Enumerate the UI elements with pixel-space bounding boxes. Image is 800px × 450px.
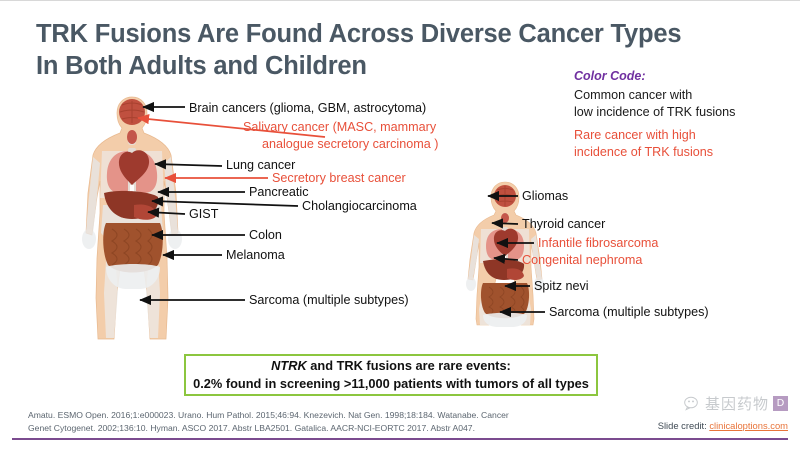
slide-canvas: TRK Fusions Are Found Across Diverse Can… — [0, 0, 800, 450]
adult-body-anatomy — [62, 93, 202, 343]
adult-label-salivary-line-1: Salivary cancer (MASC, mammary — [243, 119, 436, 135]
child-label-infantile-fibrosarcoma: Infantile fibrosarcoma — [538, 235, 658, 251]
callout-line-1-rest: and TRK fusions are rare events: — [307, 358, 511, 373]
adult-thyroid-organ — [127, 130, 137, 144]
adult-label-gist: GIST — [189, 206, 218, 222]
legend-common-line-2: low incidence of TRK fusions — [574, 104, 798, 121]
color-code-legend: Color Code: Common cancer with low incid… — [574, 69, 798, 161]
title-line-1: TRK Fusions Are Found Across Diverse Can… — [36, 18, 656, 50]
legend-rare-line-2: incidence of TRK fusions — [574, 144, 798, 161]
adult-anatomy-illustration — [62, 93, 202, 343]
child-label-sarcoma: Sarcoma (multiple subtypes) — [549, 304, 709, 320]
callout-line-1: NTRK and TRK fusions are rare events: — [271, 357, 511, 375]
adult-label-sarcoma: Sarcoma (multiple subtypes) — [249, 292, 409, 308]
page-title: TRK Fusions Are Found Across Diverse Can… — [36, 18, 656, 83]
child-label-gliomas: Gliomas — [522, 188, 568, 204]
legend-rare-line-1: Rare cancer with high — [574, 127, 798, 144]
watermark-badge: D — [773, 396, 788, 411]
child-pelvis-bone — [483, 313, 527, 327]
child-label-congenital-nephroma: Congenital nephroma — [522, 252, 642, 268]
watermark: 基因药物 D — [684, 393, 788, 414]
title-line-2: In Both Adults and Children — [36, 50, 656, 82]
adult-label-melanoma: Melanoma — [226, 247, 285, 263]
child-label-thyroid: Thyroid cancer — [522, 216, 605, 232]
wechat-icon — [684, 396, 701, 411]
legend-common-line-1: Common cancer with — [574, 87, 798, 104]
adult-label-salivary-line-2: analogue secretory carcinoma ) — [262, 136, 438, 152]
watermark-text: 基因药物 — [705, 393, 769, 414]
callout-line-2: 0.2% found in screening >11,000 patients… — [193, 375, 589, 393]
adult-label-cholangiocarcinoma: Cholangiocarcinoma — [302, 198, 417, 214]
adult-brain-organ — [119, 99, 145, 125]
child-brain-organ — [494, 185, 516, 207]
bottom-accent-rule — [12, 438, 788, 440]
citations-line-1: Amatu. ESMO Open. 2016;1:e000023. Urano.… — [28, 409, 608, 422]
legend-common-cancer: Common cancer with low incidence of TRK … — [574, 87, 798, 120]
key-statistic-callout: NTRK and TRK fusions are rare events: 0.… — [184, 354, 598, 396]
clinicaloptions-link[interactable]: clinicaloptions.com — [709, 420, 788, 431]
slide-credit-prefix: Slide credit: — [658, 420, 710, 431]
citations-line-2: Genet Cytogenet. 2002;136:10. Hyman. ASC… — [28, 422, 608, 435]
slide-credit: Slide credit: clinicaloptions.com — [658, 420, 788, 431]
callout-gene-name: NTRK — [271, 358, 307, 373]
child-label-spitz-nevi: Spitz nevi — [534, 278, 589, 294]
legend-heading: Color Code: — [574, 69, 798, 83]
adult-label-brain: Brain cancers (glioma, GBM, astrocytoma) — [189, 100, 426, 116]
legend-rare-cancer: Rare cancer with high incidence of TRK f… — [574, 127, 798, 160]
adult-label-pancreatic: Pancreatic — [249, 184, 309, 200]
child-thyroid-organ — [501, 213, 509, 223]
adult-label-colon: Colon — [249, 227, 282, 243]
citations: Amatu. ESMO Open. 2016;1:e000023. Urano.… — [28, 409, 608, 435]
